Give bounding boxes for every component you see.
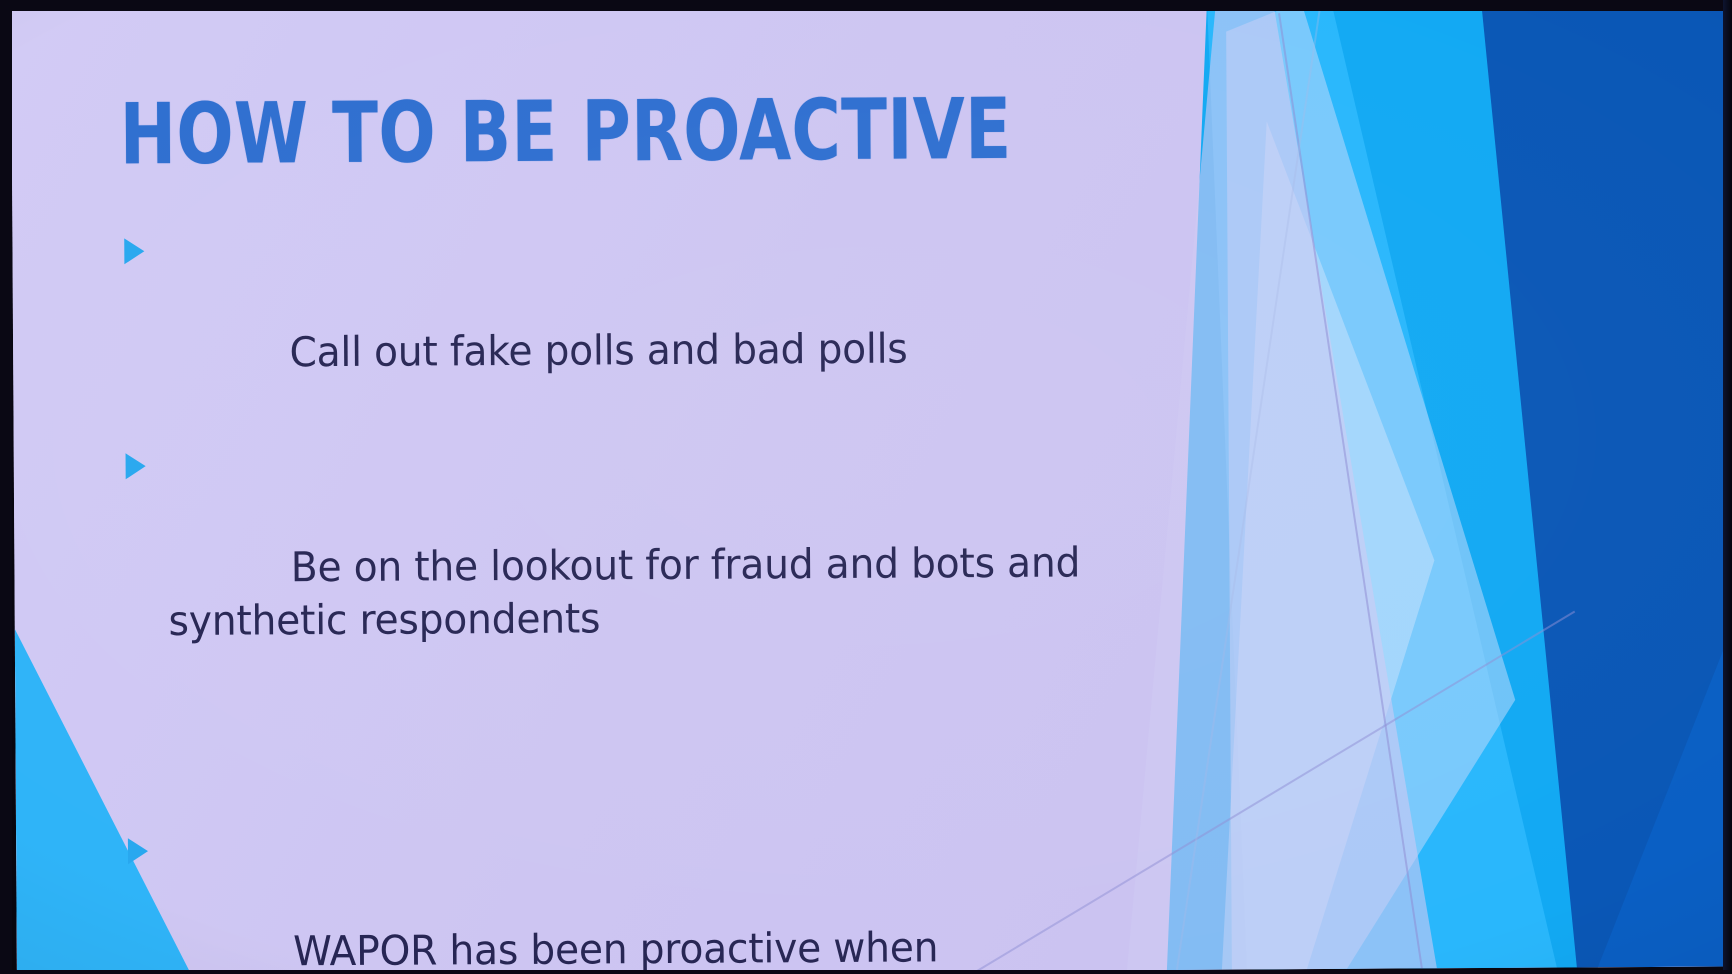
slide-title: HOW TO BE PROACTIVE (120, 87, 978, 176)
bullet-list: Call out fake polls and bad polls Be on … (120, 214, 1226, 974)
triangle-bullet-icon (126, 453, 146, 479)
bullet-item-1: Call out fake polls and bad polls (120, 214, 1172, 434)
triangle-bullet-icon (128, 838, 148, 864)
slide-content: HOW TO BE PROACTIVE Call out fake polls … (11, 2, 1197, 974)
bullet-item-1-text: Call out fake polls and bad polls (289, 324, 907, 376)
photographed-screen-frame: HOW TO BE PROACTIVE Call out fake polls … (0, 0, 1732, 974)
bullet-item-3: WAPOR has been proactive when approachin… (124, 814, 1139, 974)
bullet-item-2-text: Be on the lookout for fraud and bots and… (168, 538, 1092, 645)
presentation-slide: HOW TO BE PROACTIVE Call out fake polls … (11, 0, 1732, 974)
screen-bezel-left (0, 0, 12, 974)
bullet-item-3-text: WAPOR has been proactive when approachin… (171, 924, 1102, 974)
bullet-item-2: Be on the lookout for fraud and bots and… (122, 429, 1174, 702)
triangle-bullet-icon (124, 238, 144, 264)
